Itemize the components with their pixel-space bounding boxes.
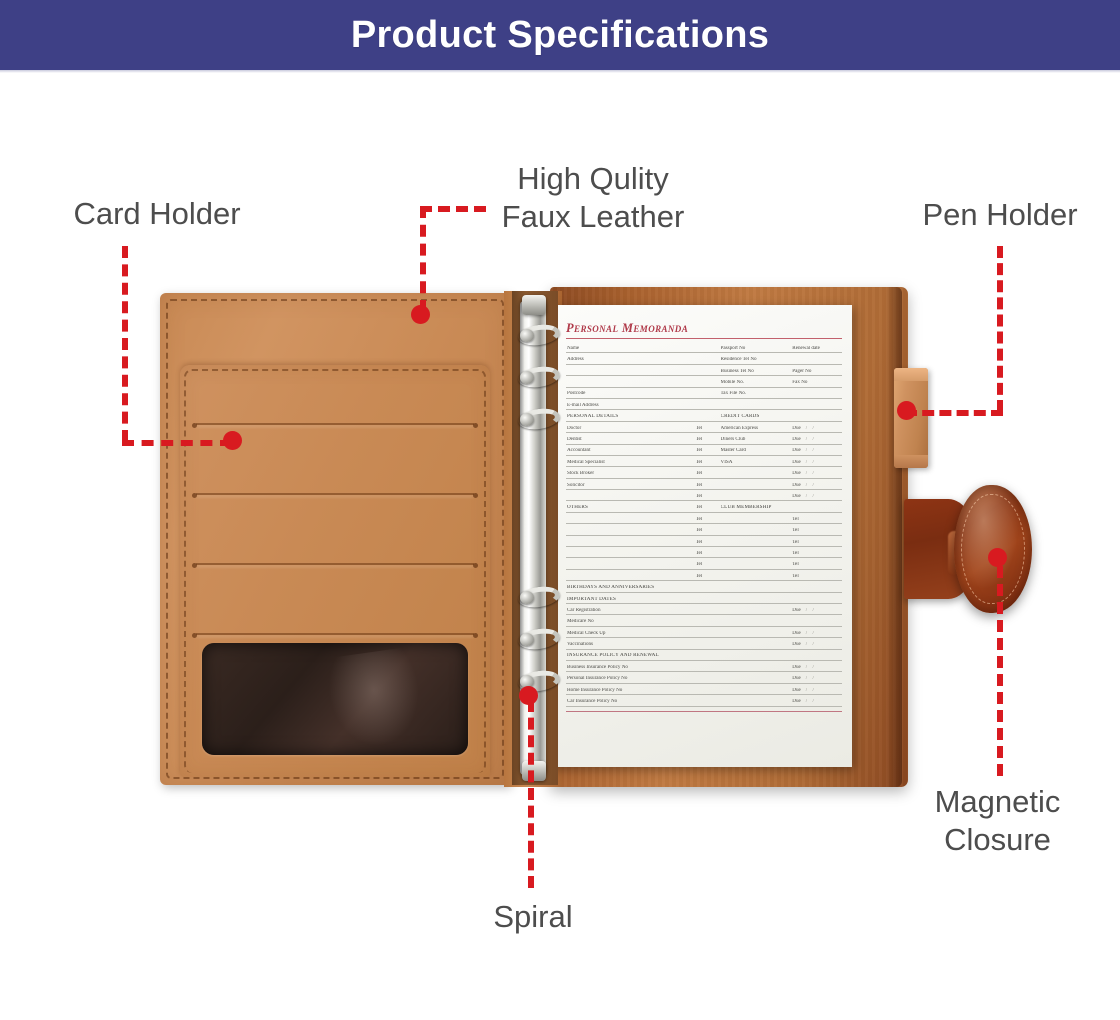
- leader-line-card-holder-horizontal: [122, 440, 232, 446]
- form-cell: [696, 590, 721, 591]
- form-row: TelTel: [566, 570, 842, 581]
- form-cell: Due/ /: [792, 494, 842, 500]
- form-cell: [696, 408, 721, 409]
- ring-binder-mechanism: [512, 291, 558, 785]
- form-cell: Due/ /: [792, 676, 842, 682]
- form-cell: Due/ /: [792, 608, 842, 614]
- form-cell: Renewal date: [792, 346, 842, 352]
- form-cell: [792, 659, 842, 660]
- form-row: PostcodeTax File No.: [566, 388, 842, 399]
- pen-loop-bottom-edge: [894, 455, 928, 468]
- form-cell: American Express: [721, 426, 793, 432]
- form-cell: [696, 385, 721, 386]
- callout-label-faux-leather: High Qulity Faux Leather: [468, 160, 718, 236]
- form-row: DentistTelDiners ClubDue/ /: [566, 433, 842, 444]
- form-cell: [792, 590, 842, 591]
- card-slot: [196, 633, 474, 635]
- form-cell: [566, 522, 696, 523]
- form-cell: Tel: [792, 540, 842, 546]
- form-row: NamePassport NoRenewal date: [566, 342, 842, 353]
- form-cell: [721, 613, 793, 614]
- form-cell: [696, 351, 721, 352]
- form-cell: E-mail Address: [566, 403, 696, 409]
- form-cell: [566, 533, 696, 534]
- form-cell: Dentist: [566, 437, 696, 443]
- magnetic-closure-flap: [904, 485, 1032, 613]
- form-cell: [721, 704, 793, 705]
- form-row: Personal Insurance Policy NoDue/ /: [566, 672, 842, 683]
- form-cell: [721, 659, 793, 660]
- form-cell: [696, 659, 721, 660]
- form-row: Home Insurance Policy NoDue/ /: [566, 684, 842, 695]
- form-cell: [792, 602, 842, 603]
- form-cell: Business Tel No: [721, 369, 793, 375]
- pen-loop-top-edge: [894, 368, 928, 381]
- form-cell: PERSONAL DETAILS: [566, 414, 696, 420]
- form-cell: [721, 624, 793, 625]
- form-row: DoctorTelAmerican ExpressDue/ /: [566, 422, 842, 433]
- form-row: IMPORTANT DATES: [566, 593, 842, 604]
- form-cell: Due/ /: [792, 471, 842, 477]
- form-cell: Due/ /: [792, 688, 842, 694]
- slot-rivet: [473, 493, 478, 498]
- form-cell: Residence Tel No: [721, 357, 793, 363]
- form-cell: [696, 362, 721, 363]
- callout-dot-magnetic-closure: [988, 548, 1007, 567]
- form-cell: [696, 670, 721, 671]
- form-cell: Car Insurance Policy No: [566, 699, 696, 705]
- form-cell: CREDIT CARDS: [721, 414, 793, 420]
- form-row: INSURANCE POLICY AND RENEWAL: [566, 650, 842, 661]
- form-row: SolicitorTelDue/ /: [566, 479, 842, 490]
- form-row: AccountantTelMaster CardDue/ /: [566, 445, 842, 456]
- form-cell: [566, 374, 696, 375]
- form-row: PERSONAL DETAILSCREDIT CARDS: [566, 410, 842, 421]
- form-cell: [721, 499, 793, 500]
- form-cell: Accountant: [566, 448, 696, 454]
- form-row: E-mail Address: [566, 399, 842, 410]
- form-cell: Due/ /: [792, 448, 842, 454]
- leader-line-leather-vertical: [420, 206, 426, 312]
- product-photo: Personal Memoranda NamePassport NoRenewa…: [152, 285, 952, 797]
- form-cell: [792, 397, 842, 398]
- slot-rivet: [473, 563, 478, 568]
- card-slot: [196, 493, 474, 495]
- form-row: TelTel: [566, 547, 842, 558]
- form-cell: INSURANCE POLICY AND RENEWAL: [566, 653, 696, 659]
- form-cell: Tel: [792, 562, 842, 568]
- callout-label-card-holder: Card Holder: [22, 195, 292, 233]
- form-row: BIRTHDAYS AND ANNIVERSARIES: [566, 581, 842, 592]
- form-cell: Solicitor: [566, 483, 696, 489]
- slot-rivet: [192, 563, 197, 568]
- form-cell: [696, 613, 721, 614]
- form-cell: Tel: [696, 505, 721, 511]
- card-slot: [196, 423, 474, 425]
- binder-clasp[interactable]: [522, 761, 546, 781]
- form-cell: VISA: [721, 460, 793, 466]
- form-cell: [696, 704, 721, 705]
- form-cell: [792, 510, 842, 511]
- form-cell: Tel: [696, 540, 721, 546]
- form-cell: Medical Check Up: [566, 631, 696, 637]
- form-cell: Due/ /: [792, 460, 842, 466]
- form-cell: [721, 533, 793, 534]
- form-cell: [721, 647, 793, 648]
- form-cell: Tel: [696, 574, 721, 580]
- form-cell: [721, 579, 793, 580]
- form-cell: [696, 636, 721, 637]
- form-cell: [721, 408, 793, 409]
- form-cell: [721, 556, 793, 557]
- form-cell: Personal Insurance Policy No: [566, 676, 696, 682]
- binder-ring: [518, 367, 560, 387]
- insert-page: Personal Memoranda NamePassport NoRenewa…: [550, 305, 852, 767]
- form-row: Car Insurance Policy NoDue/ /: [566, 695, 842, 706]
- form-cell: [566, 499, 696, 500]
- card-holder-panel: [180, 365, 490, 777]
- binder-ring: [518, 325, 560, 345]
- form-cell: Business Insurance Policy No: [566, 665, 696, 671]
- form-cell: Passport No: [721, 346, 793, 352]
- window-glare: [324, 646, 427, 752]
- form-cell: Tel: [696, 448, 721, 454]
- form-cell: [566, 579, 696, 580]
- form-cell: [696, 602, 721, 603]
- form-cell: Car Registration: [566, 608, 696, 614]
- callout-dot-faux-leather: [411, 305, 430, 324]
- form-row: Medical Check UpDue/ /: [566, 627, 842, 638]
- form-cell: Fax No: [792, 380, 842, 386]
- form-cell: Tel: [696, 471, 721, 477]
- form-cell: Due/ /: [792, 437, 842, 443]
- form-row: Mobile No.Fax No: [566, 376, 842, 387]
- callout-dot-pen-holder: [897, 401, 916, 420]
- callout-label-pen-holder: Pen Holder: [895, 196, 1105, 234]
- form-cell: Due/ /: [792, 483, 842, 489]
- form-cell: [696, 693, 721, 694]
- form-row: Business Insurance Policy NoDue/ /: [566, 661, 842, 672]
- form-cell: Tel: [696, 483, 721, 489]
- form-cell: Pager No: [792, 369, 842, 375]
- form-cell: Tel: [792, 528, 842, 534]
- binder-ring: [518, 409, 560, 429]
- form-cell: CLUB MEMBERSHIP: [721, 505, 793, 511]
- slot-rivet: [192, 423, 197, 428]
- callout-dot-spiral: [519, 686, 538, 705]
- binder-clasp[interactable]: [522, 295, 546, 315]
- form-cell: Tel: [696, 437, 721, 443]
- form-cell: Tax File No.: [721, 391, 793, 397]
- callout-label-spiral: Spiral: [448, 898, 618, 936]
- form-row: TelTel: [566, 558, 842, 569]
- header-banner: Product Specifications: [0, 0, 1120, 70]
- form-cell: Postcode: [566, 391, 696, 397]
- form-row: Medical SpecialistTelVISADue/ /: [566, 456, 842, 467]
- form-cell: OTHERS: [566, 505, 696, 511]
- card-slot: [196, 563, 474, 565]
- form-cell: Tel: [696, 528, 721, 534]
- form-cell: BIRTHDAYS AND ANNIVERSARIES: [566, 585, 696, 591]
- form-cell: Master Card: [721, 448, 793, 454]
- slot-rivet: [473, 633, 478, 638]
- form-cell: [721, 670, 793, 671]
- form-row: TelDue/ /: [566, 490, 842, 501]
- form-cell: [566, 545, 696, 546]
- binder-ring: [518, 629, 560, 649]
- form-cell: Diners Club: [721, 437, 793, 443]
- leader-line-pen-holder-horizontal: [905, 410, 1003, 416]
- form-cell: [792, 419, 842, 420]
- form-row: Stock BrokerTelDue/ /: [566, 467, 842, 478]
- binder-ring: [518, 587, 560, 607]
- form-cell: [721, 567, 793, 568]
- leader-line-pen-holder-vertical: [997, 246, 1003, 412]
- form-row: VaccinationsDue/ /: [566, 638, 842, 649]
- form-cell: [721, 693, 793, 694]
- slot-rivet: [473, 423, 478, 428]
- form-cell: IMPORTANT DATES: [566, 597, 696, 603]
- form-cell: [721, 522, 793, 523]
- form-row: Business Tel NoPager No: [566, 365, 842, 376]
- leader-line-magnetic-closure-vertical: [997, 566, 1003, 776]
- form-cell: Due/ /: [792, 426, 842, 432]
- form-cell: Tel: [792, 574, 842, 580]
- form-row: OTHERSTelCLUB MEMBERSHIP: [566, 501, 842, 512]
- form-cell: [721, 590, 793, 591]
- form-cell: [721, 602, 793, 603]
- form-cell: Tel: [696, 551, 721, 557]
- form-cell: [792, 408, 842, 409]
- callout-label-magnetic-closure: Magnetic Closure: [900, 783, 1095, 859]
- form-cell: [721, 681, 793, 682]
- banner-bottom-edge: [0, 70, 1120, 73]
- personal-memoranda-form: Personal Memoranda NamePassport NoRenewa…: [566, 321, 842, 755]
- form-cell: [696, 419, 721, 420]
- form-cell: Medicare No: [566, 619, 696, 625]
- form-row: TelTel: [566, 536, 842, 547]
- form-cell: [792, 362, 842, 363]
- form-cell: [566, 567, 696, 568]
- form-cell: Tel: [696, 494, 721, 500]
- infographic-canvas: Product Specifications: [0, 0, 1120, 1020]
- form-cell: Mobile No.: [721, 380, 793, 386]
- form-cell: [566, 556, 696, 557]
- leader-line-spiral-vertical: [528, 700, 534, 888]
- form-cell: [696, 397, 721, 398]
- form-cell: Tel: [792, 551, 842, 557]
- slot-rivet: [192, 633, 197, 638]
- form-cell: [721, 545, 793, 546]
- form-cell: Medical Specialist: [566, 460, 696, 466]
- form-cell: [696, 624, 721, 625]
- form-cell: [721, 476, 793, 477]
- leader-line-leather-horizontal: [420, 206, 486, 212]
- form-row: TelTel: [566, 524, 842, 535]
- form-cell: [792, 624, 842, 625]
- form-cell: Due/ /: [792, 665, 842, 671]
- form-row: AddressResidence Tel No: [566, 353, 842, 364]
- form-cell: [696, 374, 721, 375]
- form-cell: Tel: [696, 562, 721, 568]
- form-cell: Due/ /: [792, 642, 842, 648]
- form-cell: [721, 488, 793, 489]
- form-cell: Doctor: [566, 426, 696, 432]
- form-cell: Address: [566, 357, 696, 363]
- form-cell: Stock Broker: [566, 471, 696, 477]
- form-row: Car RegistrationDue/ /: [566, 604, 842, 615]
- callout-dot-card-holder: [223, 431, 242, 450]
- portfolio-left-flap: [160, 293, 510, 785]
- form-cell: Due/ /: [792, 631, 842, 637]
- form-cell: [721, 636, 793, 637]
- form-title: Personal Memoranda: [566, 321, 842, 339]
- form-rows: NamePassport NoRenewal dateAddressReside…: [566, 342, 842, 707]
- form-row: TelTel: [566, 513, 842, 524]
- slot-rivet: [192, 493, 197, 498]
- leader-line-card-holder-vertical: [122, 246, 128, 442]
- form-cell: Tel: [792, 517, 842, 523]
- id-window-pocket: [202, 643, 468, 755]
- form-cell: [696, 647, 721, 648]
- form-cell: Name: [566, 346, 696, 352]
- form-cell: Due/ /: [792, 699, 842, 705]
- form-bottom-rule: [566, 711, 842, 712]
- form-cell: [696, 681, 721, 682]
- page-title: Product Specifications: [351, 14, 769, 57]
- form-row: Medicare No: [566, 615, 842, 626]
- form-cell: Tel: [696, 460, 721, 466]
- form-cell: Tel: [696, 517, 721, 523]
- form-cell: Vaccinations: [566, 642, 696, 648]
- form-cell: Home Insurance Policy No: [566, 688, 696, 694]
- form-cell: [566, 385, 696, 386]
- form-cell: Tel: [696, 426, 721, 432]
